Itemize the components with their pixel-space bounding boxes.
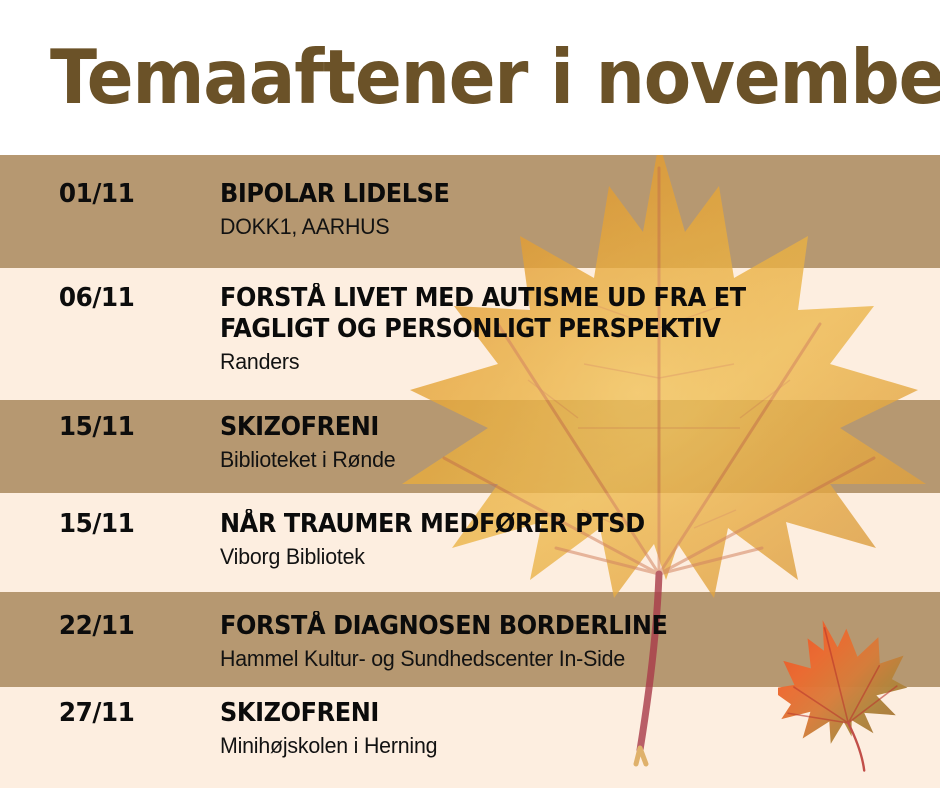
event-title: FORSTÅ DIAGNOSEN BORDERLINE (220, 611, 897, 642)
event-row-2[interactable]: 06/11 FORSTÅ LIVET MED AUTISME UD FRA ET… (0, 283, 940, 376)
event-body: BIPOLAR LIDELSE DOKK1, AARHUS (160, 179, 940, 241)
event-venue: Minihøjskolen i Herning (220, 732, 918, 760)
event-date: 15/11 (0, 412, 152, 442)
event-venue: Randers (220, 348, 918, 376)
event-venue: DOKK1, AARHUS (220, 213, 918, 241)
event-title-line: FAGLIGT OG PERSONLIGT PERSPEKTIV (220, 314, 897, 345)
event-title: BIPOLAR LIDELSE (220, 179, 897, 210)
event-row-6[interactable]: 27/11 SKIZOFRENI Minihøjskolen i Herning (0, 698, 940, 760)
event-date: 01/11 (0, 179, 152, 209)
event-title-line: SKIZOFRENI (220, 698, 897, 729)
event-title-line: NÅR TRAUMER MEDFØRER PTSD (220, 509, 897, 540)
event-row-5[interactable]: 22/11 FORSTÅ DIAGNOSEN BORDERLINE Hammel… (0, 611, 940, 673)
event-title: SKIZOFRENI (220, 698, 897, 729)
event-title: SKIZOFRENI (220, 412, 897, 443)
event-body: SKIZOFRENI Minihøjskolen i Herning (160, 698, 940, 760)
event-title-line: BIPOLAR LIDELSE (220, 179, 897, 210)
event-venue: Viborg Bibliotek (220, 543, 918, 571)
event-body: SKIZOFRENI Biblioteket i Rønde (160, 412, 940, 474)
event-date: 15/11 (0, 509, 152, 539)
event-title: NÅR TRAUMER MEDFØRER PTSD (220, 509, 897, 540)
event-row-1[interactable]: 01/11 BIPOLAR LIDELSE DOKK1, AARHUS (0, 179, 940, 241)
event-title-line: SKIZOFRENI (220, 412, 897, 443)
event-date: 06/11 (0, 283, 152, 313)
event-venue: Hammel Kultur- og Sundhedscenter In-Side (220, 645, 918, 673)
event-body: FORSTÅ LIVET MED AUTISME UD FRA ET FAGLI… (160, 283, 940, 376)
event-venue: Biblioteket i Rønde (220, 446, 918, 474)
event-body: NÅR TRAUMER MEDFØRER PTSD Viborg Bibliot… (160, 509, 940, 571)
event-title-line: FORSTÅ LIVET MED AUTISME UD FRA ET (220, 283, 897, 314)
event-date: 27/11 (0, 698, 152, 728)
page-title: Temaaftener i november (50, 42, 940, 113)
event-body: FORSTÅ DIAGNOSEN BORDERLINE Hammel Kultu… (160, 611, 940, 673)
poster-root: Temaaftener i november 01/11 BIPOLAR LID… (0, 0, 940, 788)
event-row-3[interactable]: 15/11 SKIZOFRENI Biblioteket i Rønde (0, 412, 940, 474)
event-row-4[interactable]: 15/11 NÅR TRAUMER MEDFØRER PTSD Viborg B… (0, 509, 940, 571)
event-title-line: FORSTÅ DIAGNOSEN BORDERLINE (220, 611, 897, 642)
title-bar: Temaaftener i november (0, 0, 940, 155)
event-title: FORSTÅ LIVET MED AUTISME UD FRA ET FAGLI… (220, 283, 897, 345)
event-date: 22/11 (0, 611, 152, 641)
